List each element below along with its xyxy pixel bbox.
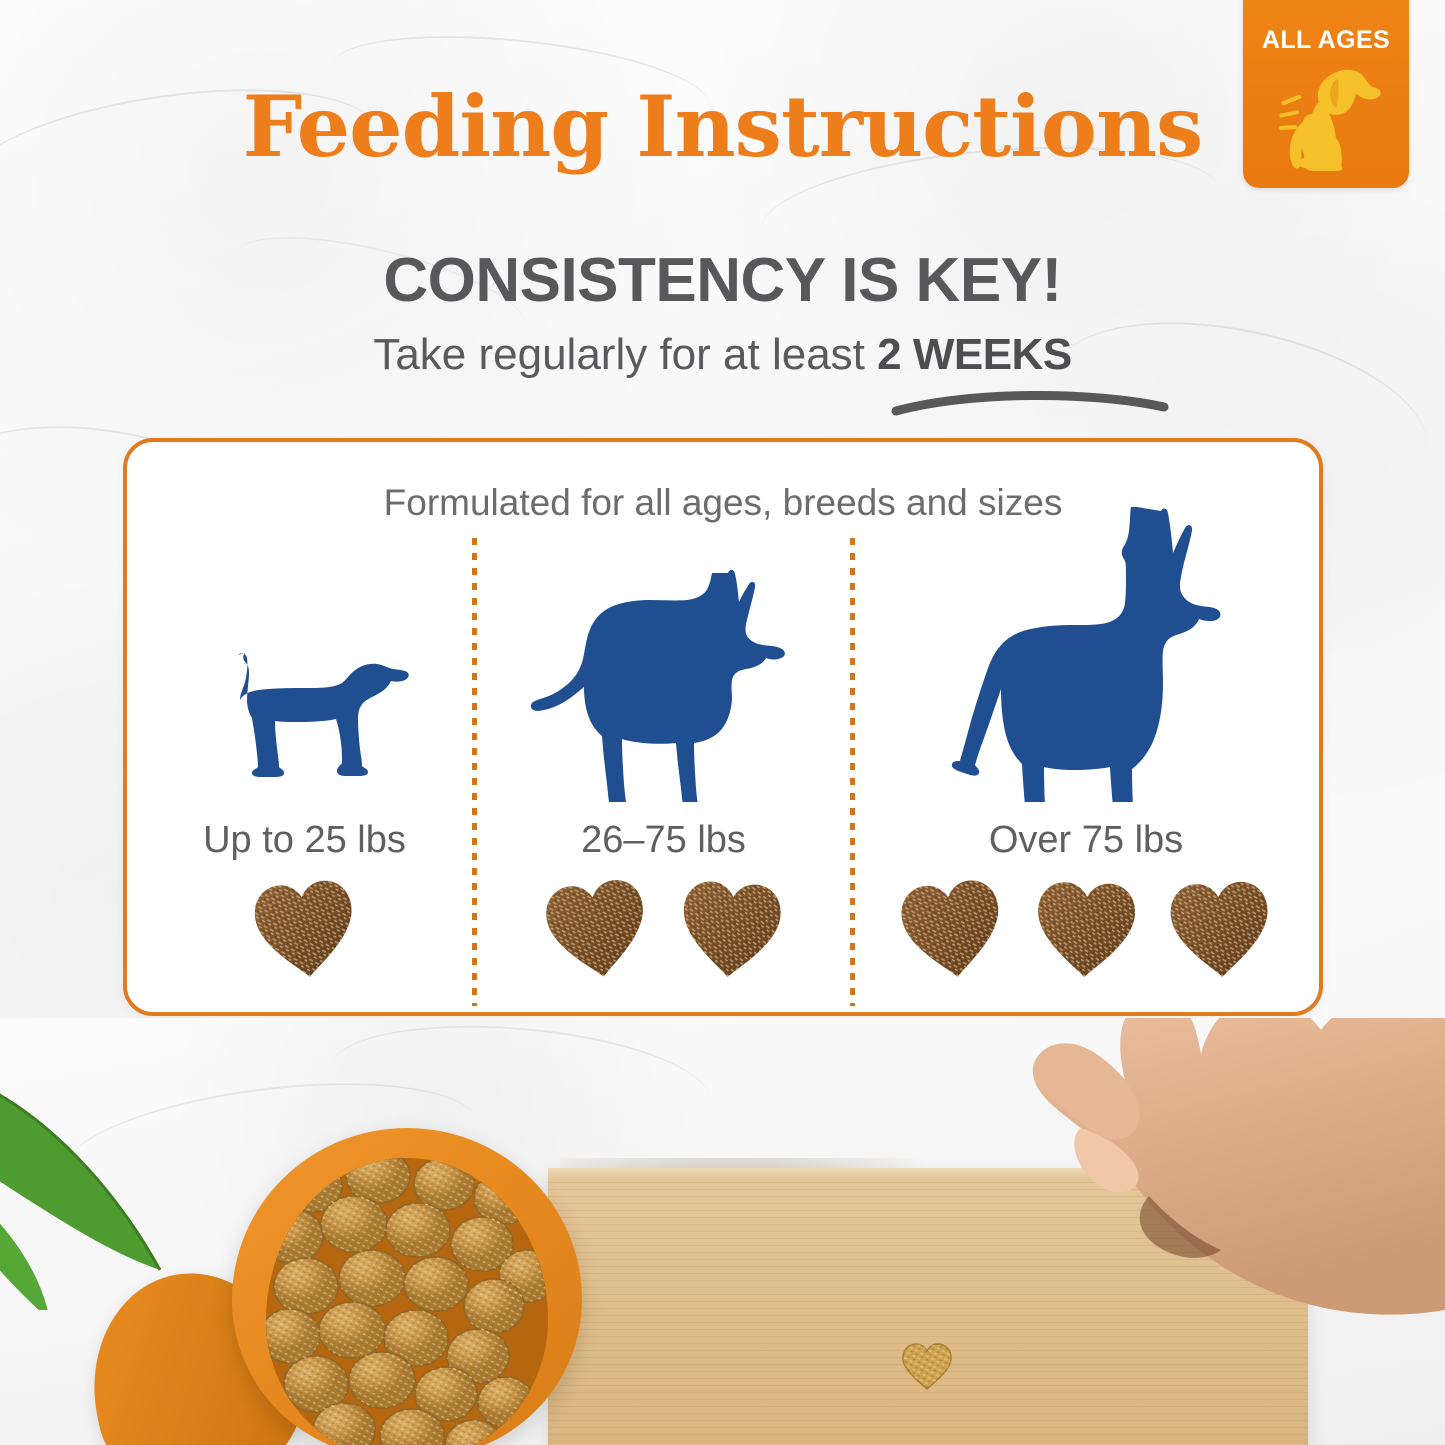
all-ages-badge-label: ALL AGES	[1243, 26, 1409, 55]
kibble-heart-icon	[1028, 873, 1144, 985]
large-dog-silhouette-icon	[931, 507, 1241, 802]
kibble-row-large	[855, 866, 1317, 992]
headline-subtitle: CONSISTENCY IS KEY!	[0, 245, 1445, 316]
tub-kibble-fill	[266, 1158, 548, 1445]
size-column-small: Up to 25 lbs	[137, 502, 472, 1002]
kibble-pile-icon	[266, 1158, 548, 1445]
small-dog-illustration	[137, 502, 472, 802]
size-label-medium: 26–75 lbs	[477, 819, 850, 862]
large-dog-illustration	[855, 502, 1317, 802]
single-kibble-piece-icon	[900, 1340, 954, 1392]
small-dog-silhouette-icon	[200, 637, 410, 802]
size-column-medium: 26–75 lbs	[477, 502, 850, 1002]
tagline-emphasis: 2 WEEKS	[877, 330, 1072, 379]
tagline: Take regularly for at least 2 WEEKS	[373, 330, 1071, 380]
size-chart-card: Formulated for all ages, breeds and size…	[123, 438, 1323, 1016]
kibble-heart-icon	[673, 873, 789, 985]
tagline-row: Take regularly for at least 2 WEEKS	[0, 330, 1445, 380]
kibble-heart-icon	[1162, 873, 1278, 985]
page-title: Feeding Instructions	[0, 85, 1445, 169]
hand-holding-kibble-icon	[905, 1018, 1445, 1370]
size-label-small: Up to 25 lbs	[137, 819, 472, 862]
feeding-instructions-infographic: ALL AGES	[0, 0, 1445, 1445]
kibble-row-medium	[477, 866, 850, 992]
plant-leaf-icon	[0, 1070, 190, 1310]
size-column-large: Over 75 lbs	[855, 502, 1317, 1002]
medium-dog-silhouette-icon	[524, 567, 804, 802]
tagline-prefix: Take regularly for at least	[373, 330, 877, 379]
kibble-heart-icon	[247, 873, 363, 985]
size-label-large: Over 75 lbs	[855, 819, 1317, 862]
product-photo	[0, 1018, 1445, 1445]
underline-swoosh-icon	[890, 385, 1170, 417]
kibble-row-small	[137, 866, 472, 992]
kibble-heart-icon	[894, 873, 1010, 985]
medium-dog-illustration	[477, 502, 850, 802]
kibble-heart-icon	[539, 873, 655, 985]
